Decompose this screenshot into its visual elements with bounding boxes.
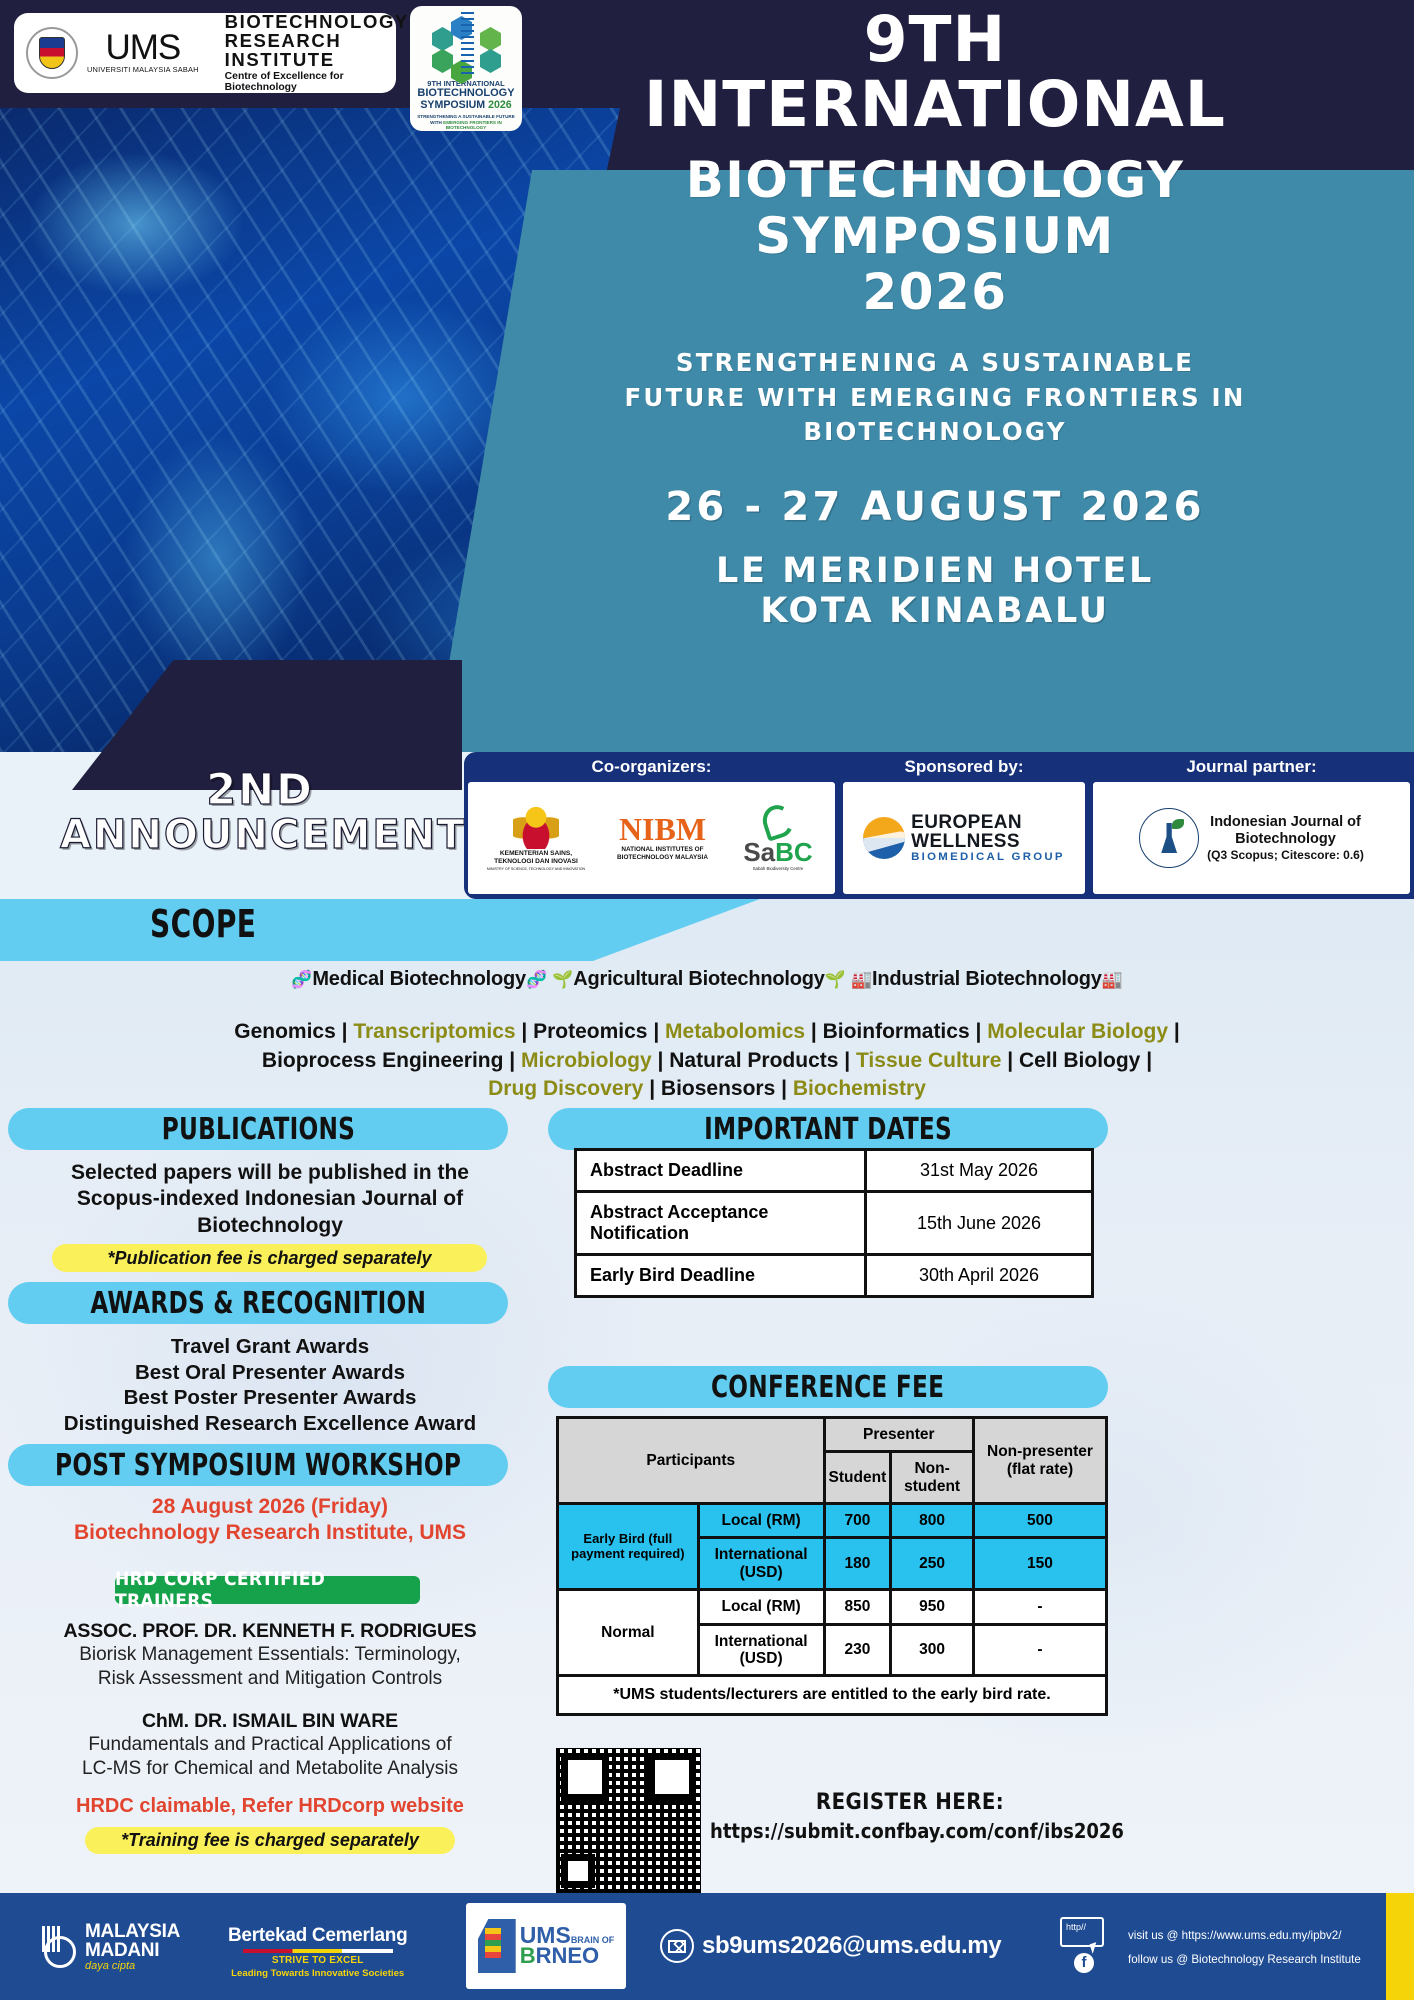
event-venue: LE MERIDIEN HOTEL KOTA KINABALU: [470, 552, 1400, 632]
brain-head-icon: [478, 1919, 516, 1973]
sprout-icon: 🌱: [825, 970, 846, 989]
keyword: Biosensors: [661, 1077, 775, 1100]
keyword: Proteomics: [533, 1020, 647, 1043]
important-dates-table: Abstract Deadline 31st May 2026 Abstract…: [574, 1148, 1094, 1298]
publications-line3: Biotechnology: [20, 1213, 520, 1239]
envelope-icon: [660, 1929, 694, 1963]
keyword: Molecular Biology: [987, 1020, 1168, 1043]
announcement-line1: 2ND: [60, 768, 460, 814]
award-item: Travel Grant Awards: [20, 1334, 520, 1360]
sponsored-by-label: Sponsored by:: [839, 752, 1089, 782]
nibm-acronym: NIBM: [619, 814, 706, 844]
bertekad-line2: STRIVE TO EXCEL: [228, 1955, 407, 1966]
trainer-1-title-line1: Biorisk Management Essentials: Terminolo…: [14, 1643, 526, 1667]
publications-line1: Selected papers will be published in the: [20, 1160, 520, 1186]
dna-icon: 🧬: [526, 970, 547, 989]
ums-crest-icon: [26, 27, 78, 79]
web-social-contact[interactable]: http// f visit us @ https://www.ums.edu.…: [1060, 1917, 1361, 1979]
training-fee-note: *Training fee is charged separately: [85, 1827, 455, 1854]
fee-student: 700: [824, 1504, 891, 1538]
col-participants: Participants: [558, 1418, 825, 1504]
table-row: Early Bird (full payment required) Local…: [558, 1504, 1107, 1538]
keyword: Tissue Culture: [856, 1049, 1001, 1072]
trainer-2-title-line1: Fundamentals and Practical Applications …: [14, 1733, 526, 1757]
keyword: Natural Products: [669, 1049, 838, 1072]
announcement-line2: ANNOUNCEMENT: [60, 814, 460, 856]
workshop-heading: POST SYMPOSIUM WORKSHOP: [8, 1444, 508, 1486]
fee-student: 230: [824, 1624, 891, 1676]
madani-icon: [42, 1926, 78, 1970]
fee-nonstudent: 300: [891, 1624, 974, 1676]
publication-fee-note: *Publication fee is charged separately: [52, 1244, 487, 1272]
title-ordinal: 9TH: [470, 8, 1400, 72]
date-value: 15th June 2026: [866, 1192, 1093, 1255]
fee-nonpresenter: 500: [973, 1504, 1106, 1538]
european-wellness-logo: EUROPEAN WELLNESS BIOMEDICAL GROUP: [863, 813, 1065, 864]
fee-nonstudent: 950: [891, 1590, 974, 1624]
borneo-line2: BRNEO: [520, 1946, 615, 1967]
bertekad-line3: Leading Towards Innovative Societies: [228, 1968, 407, 1979]
sabc-acronym: SaBC: [743, 839, 812, 865]
scope-heading: SCOPE: [150, 902, 256, 946]
title-block: 9TH INTERNATIONAL BIOTECHNOLOGY SYMPOSIU…: [470, 8, 1400, 632]
journal-line2: Biotechnology: [1207, 831, 1364, 848]
award-item: Distinguished Research Excellence Award: [20, 1411, 520, 1437]
email-address[interactable]: sb9ums2026@ums.edu.my: [702, 1932, 1001, 1960]
journal-partner-column: Journal partner: Indonesian Journal of B…: [1089, 752, 1414, 899]
trainer-1-name: ASSOC. PROF. DR. KENNETH F. RODRIGUES: [14, 1620, 526, 1643]
website-link[interactable]: visit us @ https://www.ums.edu.my/ipbv2/: [1128, 1924, 1361, 1948]
scope-areas: 🧬Medical Biotechnology🧬 🌱Agricultural Bi…: [0, 968, 1414, 991]
col-presenter: Presenter: [824, 1418, 973, 1452]
fee-type: International (USD): [698, 1624, 824, 1676]
event-dates: 26 - 27 AUGUST 2026: [470, 484, 1400, 530]
keyword: Genomics: [234, 1020, 336, 1043]
col-nonpresenter: Non-presenter (flat rate): [973, 1418, 1106, 1504]
publications-heading: PUBLICATIONS: [8, 1108, 508, 1150]
fee-student: 850: [824, 1590, 891, 1624]
theme-line2: FUTURE WITH EMERGING FRONTIERS IN: [470, 381, 1400, 416]
sprout-icon: 🌱: [552, 970, 573, 989]
keyword: Transcriptomics: [353, 1020, 515, 1043]
institute-tagline: Centre of Excellence for Biotechnology: [225, 71, 409, 93]
co-organizers-column: Co-organizers: KEMENTERIAN SAINS, TEKNOL…: [464, 752, 839, 899]
facebook-icon[interactable]: f: [1074, 1953, 1094, 1973]
dna-hexagon-icon: [428, 11, 504, 77]
register-here-label: REGISTER HERE:: [710, 1790, 1110, 1815]
ministry-subname: MINISTRY OF SCIENCE, TECHNOLOGY AND INNO…: [487, 867, 585, 871]
journal-partner-label: Journal partner:: [1089, 752, 1414, 782]
title-main-line1: BIOTECHNOLOGY: [470, 152, 1400, 208]
ums-acronym: UMS: [105, 32, 180, 64]
email-contact[interactable]: sb9ums2026@ums.edu.my: [660, 1929, 1001, 1963]
keyword: Drug Discovery: [488, 1077, 643, 1100]
co-organizers-label: Co-organizers:: [464, 752, 839, 782]
title-main: BIOTECHNOLOGY SYMPOSIUM 2026: [470, 152, 1400, 320]
scope-area-0: Medical Biotechnology: [312, 968, 526, 990]
registration-url[interactable]: https://submit.confbay.com/conf/ibs2026: [710, 1819, 1110, 1843]
factory-icon: 🏭: [1102, 970, 1123, 989]
sponsor-line2: WELLNESS: [911, 832, 1065, 851]
title-international: INTERNATIONAL: [470, 72, 1400, 138]
microscope-seal-icon: [1139, 808, 1199, 868]
fee-nonstudent: 800: [891, 1504, 974, 1538]
fee-nonstudent: 250: [891, 1538, 974, 1590]
madani-line2: MADANI: [85, 1942, 180, 1961]
fee-type: International (USD): [698, 1538, 824, 1590]
fee-footnote: *UMS students/lecturers are entitled to …: [558, 1676, 1107, 1715]
workshop-details: 28 August 2026 (Friday) Biotechnology Re…: [20, 1494, 520, 1546]
awards-list: Travel Grant Awards Best Oral Presenter …: [20, 1334, 520, 1437]
theme-text: STRENGTHENING A SUSTAINABLE FUTURE WITH …: [470, 346, 1400, 450]
keyword: Bioinformatics: [823, 1020, 970, 1043]
ministry-logo: KEMENTERIAN SAINS, TEKNOLOGI DAN INOVASI…: [482, 805, 590, 871]
bertekad-cemerlang-logo: Bertekad Cemerlang STRIVE TO EXCEL Leadi…: [228, 1925, 407, 1979]
trainer-2-title-line2: LC-MS for Chemical and Metabolite Analys…: [14, 1757, 526, 1781]
table-row: Early Bird Deadline 30th April 2026: [576, 1255, 1093, 1297]
conference-fee-heading: CONFERENCE FEE: [548, 1366, 1108, 1408]
fee-nonpresenter: 150: [973, 1538, 1106, 1590]
nibm-logo: NIBM NATIONAL INSTITUTES OF BIOTECHNOLOG…: [600, 814, 725, 861]
factory-icon: 🏭: [851, 970, 872, 989]
symposium-logo: 9TH INTERNATIONAL BIOTECHNOLOGY SYMPOSIU…: [410, 6, 522, 131]
hero-banner: UMS UNIVERSITI MALAYSIA SABAH BIOTECHNOL…: [0, 0, 1414, 752]
award-item: Best Oral Presenter Awards: [20, 1360, 520, 1386]
sabc-logo: SaBC Sabah Biodiversity Centre: [735, 805, 821, 871]
trainer-1-title-line2: Risk Assessment and Mitigation Controls: [14, 1667, 526, 1691]
journal-line1: Indonesian Journal of: [1207, 814, 1364, 831]
madani-tagline: daya cipta: [85, 1960, 180, 1972]
trainer-2-name: ChM. DR. ISMAIL BIN WARE: [14, 1710, 526, 1733]
sponsor-line3: BIOMEDICAL GROUP: [911, 851, 1065, 863]
table-header-row: Participants Presenter Non-presenter (fl…: [558, 1418, 1107, 1452]
publications-line2: Scopus-indexed Indonesian Journal of: [20, 1186, 520, 1212]
venue-line2: KOTA KINABALU: [470, 592, 1400, 632]
fee-student: 180: [824, 1538, 891, 1590]
symposium-logo-line3: SYMPOSIUM 2026: [420, 100, 511, 111]
fee-type: Local (RM): [698, 1590, 824, 1624]
date-label: Abstract Acceptance Notification: [576, 1192, 866, 1255]
fee-type: Local (RM): [698, 1504, 824, 1538]
fee-nonpresenter: -: [973, 1590, 1106, 1624]
scope-area-1: Agricultural Biotechnology: [573, 968, 824, 990]
table-row: Abstract Deadline 31st May 2026: [576, 1150, 1093, 1192]
date-label: Abstract Deadline: [576, 1150, 866, 1192]
facebook-link[interactable]: follow us @ Biotechnology Research Insti…: [1128, 1948, 1361, 1972]
date-label: Early Bird Deadline: [576, 1255, 866, 1297]
table-row: Normal Local (RM) 850 950 -: [558, 1590, 1107, 1624]
madani-line1: MALAYSIA: [85, 1923, 180, 1942]
col-nonstudent: Non-student: [891, 1452, 974, 1504]
leaf-icon: [759, 801, 798, 842]
browser-icon: http//: [1060, 1917, 1104, 1947]
footer-bar: MALAYSIA MADANI daya cipta Bertekad Ceme…: [0, 1893, 1414, 2000]
workshop-location: Biotechnology Research Institute, UMS: [20, 1520, 520, 1546]
sponsor-column: Sponsored by: EUROPEAN WELLNESS BIOMEDIC…: [839, 752, 1089, 899]
journal-logo: Indonesian Journal of Biotechnology (Q3 …: [1139, 808, 1364, 868]
col-student: Student: [824, 1452, 891, 1504]
group-label-early-bird: Early Bird (full payment required): [558, 1504, 699, 1590]
bertekad-colorbar: [243, 1949, 393, 1953]
keyword: Cell Biology: [1019, 1049, 1140, 1072]
date-value: 31st May 2026: [866, 1150, 1093, 1192]
sponsor-line1: EUROPEAN: [911, 813, 1065, 832]
dna-icon: 🧬: [291, 970, 312, 989]
hrdc-claimable-note: HRDC claimable, Refer HRDcorp website: [14, 1795, 526, 1818]
registration-info: REGISTER HERE: https://submit.confbay.co…: [710, 1790, 1110, 1843]
theme-line3: BIOTECHNOLOGY: [470, 415, 1400, 450]
wave-circle-icon: [863, 817, 905, 859]
date-value: 30th April 2026: [866, 1255, 1093, 1297]
announcement-label: 2ND ANNOUNCEMENT: [60, 768, 460, 856]
bertekad-line1: Bertekad Cemerlang: [228, 1925, 407, 1947]
workshop-date: 28 August 2026 (Friday): [20, 1494, 520, 1520]
title-main-line2: SYMPOSIUM: [470, 208, 1400, 264]
jata-negara-icon: [513, 805, 559, 849]
symposium-logo-tagline: STRENGTHENING A SUSTAINABLE FUTURE WITH …: [414, 114, 518, 131]
scope-area-2: Industrial Biotechnology: [872, 968, 1102, 990]
theme-line1: STRENGTHENING A SUSTAINABLE: [470, 346, 1400, 381]
important-dates-heading: IMPORTANT DATES: [548, 1108, 1108, 1150]
journal-metrics: (Q3 Scopus; Citescore: 0.6): [1207, 848, 1364, 862]
table-row: Abstract Acceptance Notification 15th Ju…: [576, 1192, 1093, 1255]
group-label-normal: Normal: [558, 1590, 699, 1676]
table-footnote-row: *UMS students/lecturers are entitled to …: [558, 1676, 1107, 1715]
hrd-corp-badge: HRD CORP CERTIFIED TRAINERS: [115, 1576, 420, 1604]
sabc-fullname: Sabah Biodiversity Centre: [753, 866, 804, 871]
malaysia-madani-logo: MALAYSIA MADANI daya cipta: [42, 1923, 180, 1972]
venue-line1: LE MERIDIEN HOTEL: [470, 552, 1400, 592]
nibm-fullname: NATIONAL INSTITUTES OF BIOTECHNOLOGY MAL…: [600, 846, 725, 861]
ministry-name: KEMENTERIAN SAINS, TEKNOLOGI DAN INOVASI: [482, 850, 590, 866]
publications-body: Selected papers will be published in the…: [20, 1160, 520, 1239]
partners-panel: Co-organizers: KEMENTERIAN SAINS, TEKNOL…: [464, 752, 1414, 899]
award-item: Best Poster Presenter Awards: [20, 1385, 520, 1411]
scope-keywords: Genomics | Transcriptomics | Proteomics …: [40, 1018, 1374, 1104]
footer-accent-bar: [1386, 1893, 1414, 2000]
ums-brain-of-borneo-logo: UMSBRAIN OF BRNEO: [466, 1903, 626, 1989]
trainer-1: ASSOC. PROF. DR. KENNETH F. RODRIGUES Bi…: [14, 1620, 526, 1690]
registration-qr-code[interactable]: [556, 1748, 701, 1893]
ums-logo: UMS UNIVERSITI MALAYSIA SABAH BIOTECHNOL…: [14, 13, 396, 93]
conference-fee-table: Participants Presenter Non-presenter (fl…: [556, 1416, 1108, 1716]
keyword: Microbiology: [521, 1049, 652, 1072]
trainer-2: ChM. DR. ISMAIL BIN WARE Fundamentals an…: [14, 1710, 526, 1780]
title-main-line3: 2026: [470, 264, 1400, 320]
keyword: Biochemistry: [793, 1077, 926, 1100]
keyword: Bioprocess Engineering: [262, 1049, 504, 1072]
awards-heading: AWARDS & RECOGNITION: [8, 1282, 508, 1324]
keyword: Metabolomics: [665, 1020, 805, 1043]
institute-line-2: RESEARCH INSTITUTE: [225, 32, 409, 70]
fee-nonpresenter: -: [973, 1624, 1106, 1676]
ums-university-name: UNIVERSITI MALAYSIA SABAH: [87, 65, 199, 74]
